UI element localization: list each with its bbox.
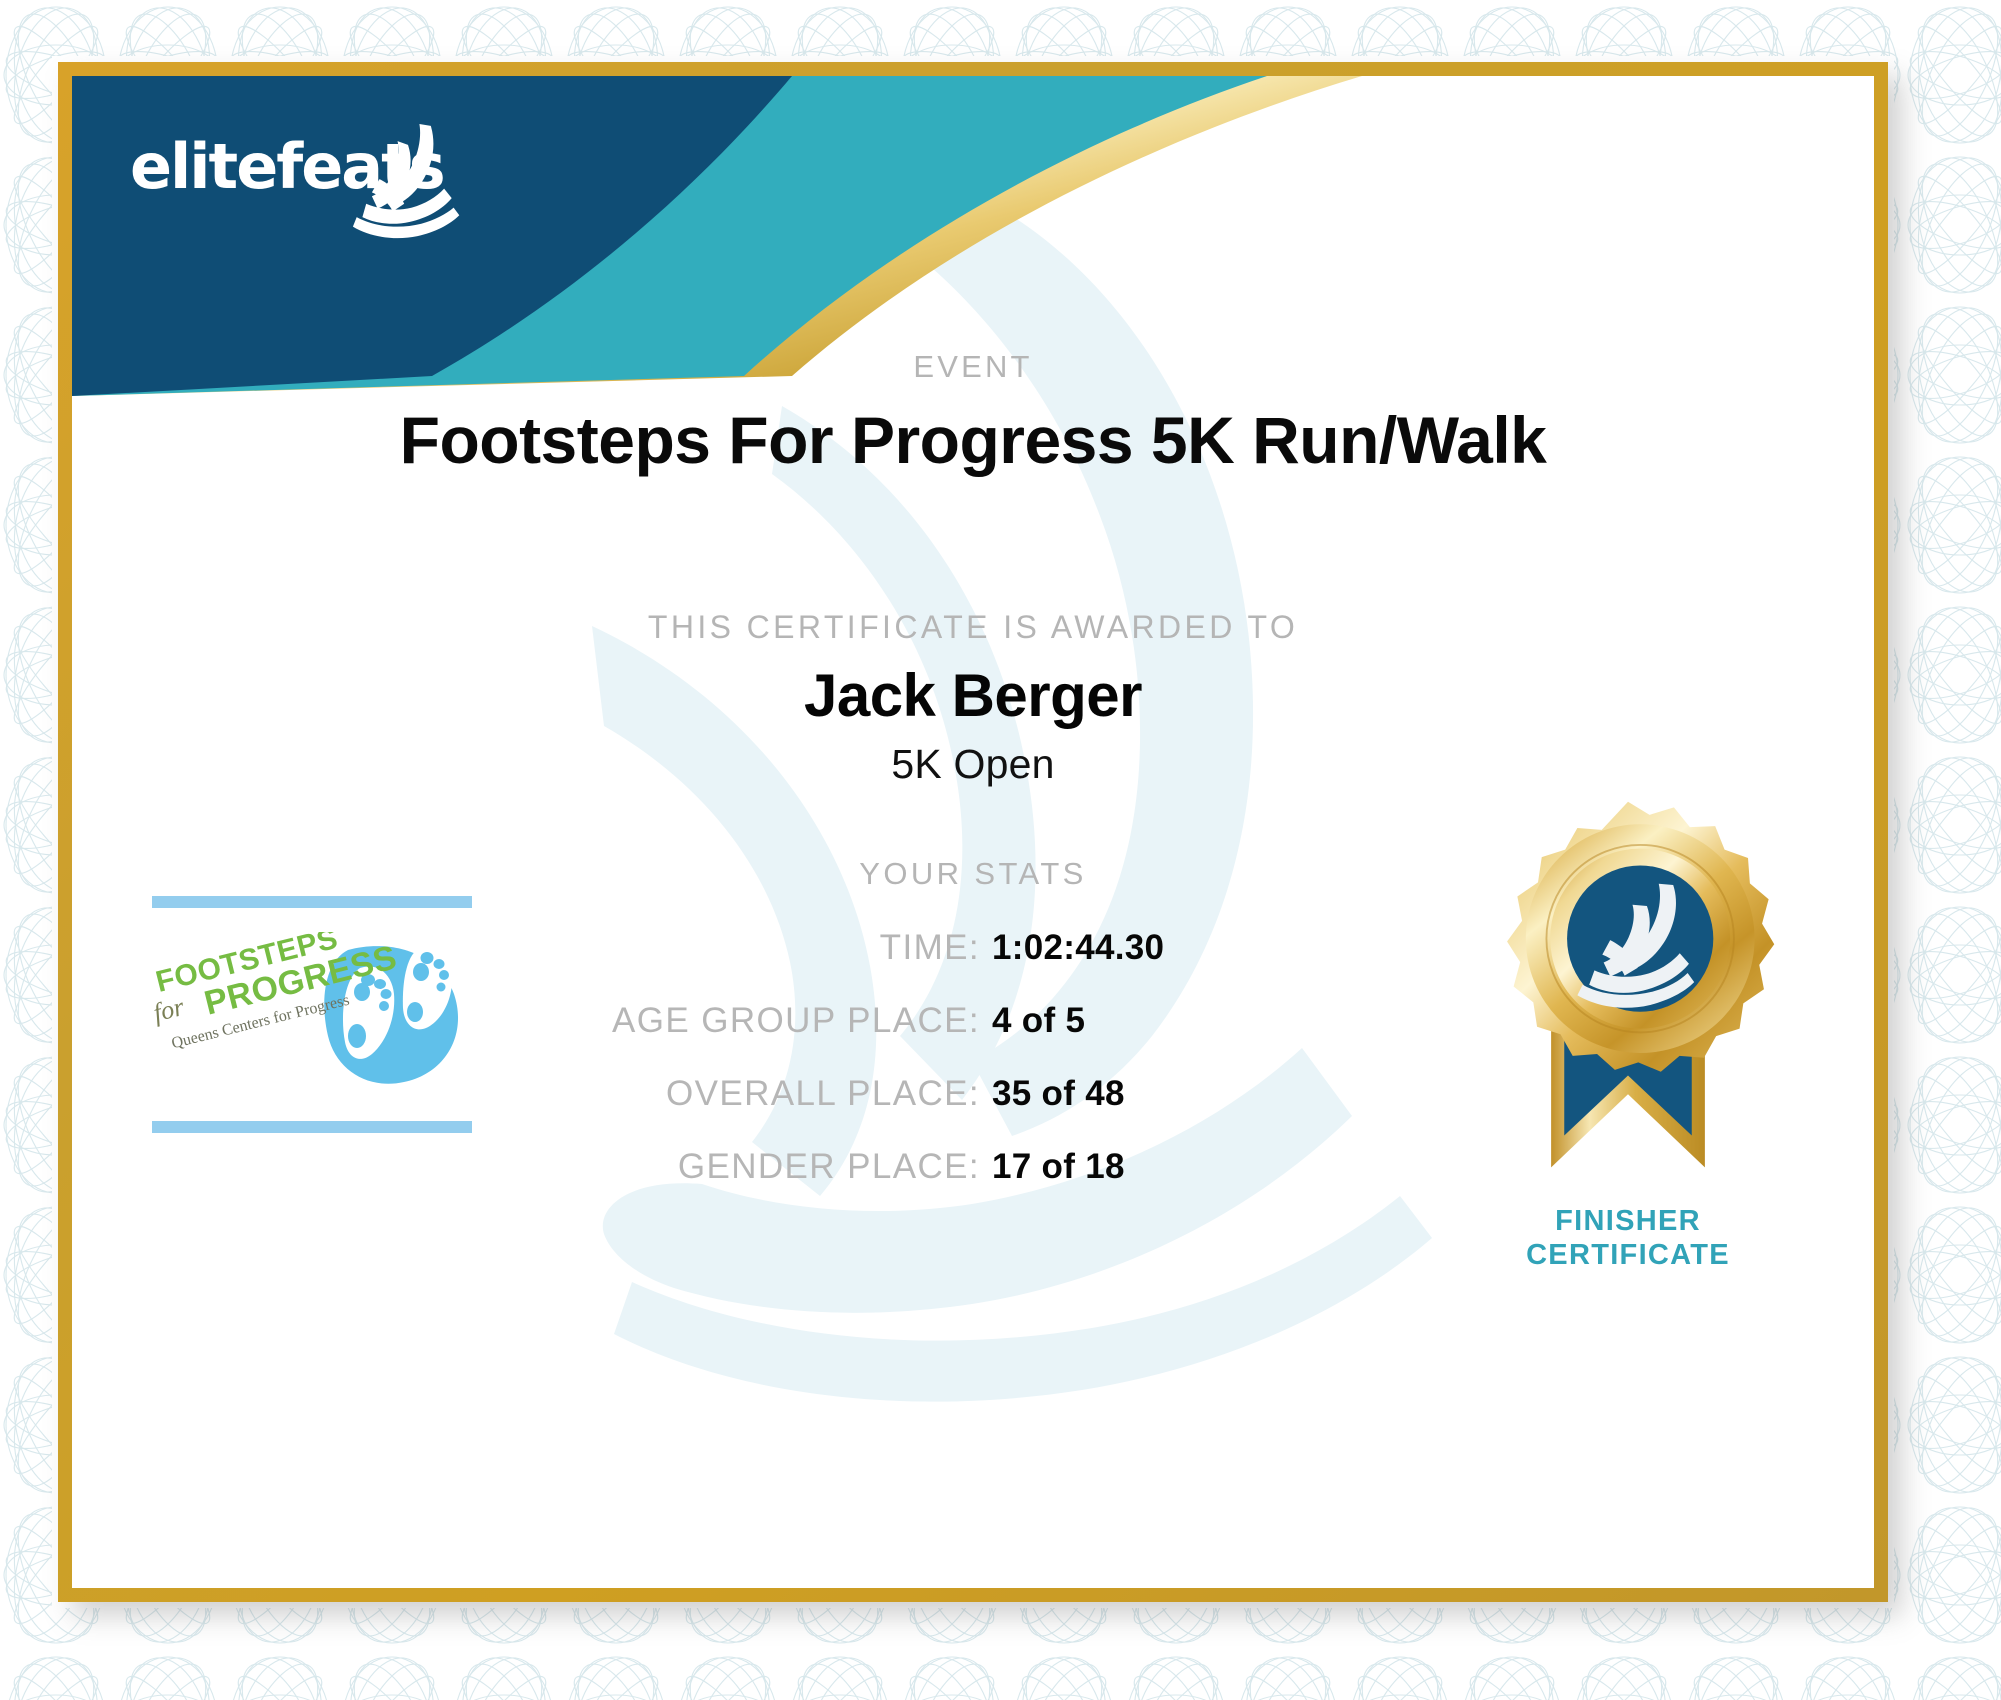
stat-row-overall-place: OVERALL PLACE: 35 of 48 bbox=[372, 1074, 1182, 1131]
awarded-to-label: THIS CERTIFICATE IS AWARDED TO bbox=[72, 609, 1874, 646]
stat-label-time: TIME: bbox=[880, 928, 980, 968]
stat-value-overall-place: 35 of 48 bbox=[992, 1074, 1182, 1114]
partner-logo-bottom-rule bbox=[152, 1121, 472, 1133]
partner-logo-block: FOOTSTEPS for PROGRESS Queens Centers fo… bbox=[152, 896, 472, 1133]
stat-label-overall-place: OVERALL PLACE: bbox=[666, 1074, 980, 1114]
finisher-badge-block: 2025 FINISHER CERTIFICATE bbox=[1468, 796, 1788, 1272]
stat-label-age-group-place: AGE GROUP PLACE: bbox=[612, 1001, 980, 1041]
stat-value-gender-place: 17 of 18 bbox=[992, 1147, 1182, 1187]
event-kicker-label: EVENT bbox=[72, 349, 1874, 385]
event-title: Footsteps For Progress 5K Run/Walk bbox=[72, 402, 1874, 478]
stat-row-time: TIME: 1:02:44.30 bbox=[372, 928, 1182, 985]
recipient-division: 5K Open bbox=[72, 741, 1874, 788]
stat-value-time: 1:02:44.30 bbox=[992, 928, 1182, 968]
stats-table: TIME: 1:02:44.30 AGE GROUP PLACE: 4 of 5… bbox=[372, 928, 1182, 1220]
certificate-gold-frame: elitefeats EVENT Footsteps For Progress … bbox=[58, 62, 1888, 1602]
partner-logo-top-rule bbox=[152, 896, 472, 908]
stat-row-gender-place: GENDER PLACE: 17 of 18 bbox=[372, 1147, 1182, 1204]
badge-caption-line1: FINISHER bbox=[1468, 1205, 1788, 1239]
stat-row-age-group-place: AGE GROUP PLACE: 4 of 5 bbox=[372, 1001, 1182, 1058]
certificate-page: elitefeats EVENT Footsteps For Progress … bbox=[0, 0, 2001, 1700]
medal-starburst bbox=[1507, 802, 1774, 1072]
partner-logo-line2: for bbox=[152, 992, 188, 1028]
certificate-content: EVENT Footsteps For Progress 5K Run/Walk… bbox=[72, 76, 1874, 1588]
stat-value-age-group-place: 4 of 5 bbox=[992, 1001, 1182, 1041]
badge-caption: FINISHER CERTIFICATE bbox=[1468, 1205, 1788, 1272]
badge-ribbon-year: 2025 bbox=[1591, 1146, 1666, 1182]
stat-label-gender-place: GENDER PLACE: bbox=[678, 1147, 980, 1187]
certificate-card: elitefeats EVENT Footsteps For Progress … bbox=[72, 76, 1874, 1588]
badge-caption-line2: CERTIFICATE bbox=[1468, 1239, 1788, 1273]
footsteps-for-progress-logo: FOOTSTEPS for PROGRESS Queens Centers fo… bbox=[152, 932, 472, 1092]
finisher-medal-icon: 2025 bbox=[1478, 796, 1778, 1190]
recipient-name: Jack Berger bbox=[72, 661, 1874, 730]
